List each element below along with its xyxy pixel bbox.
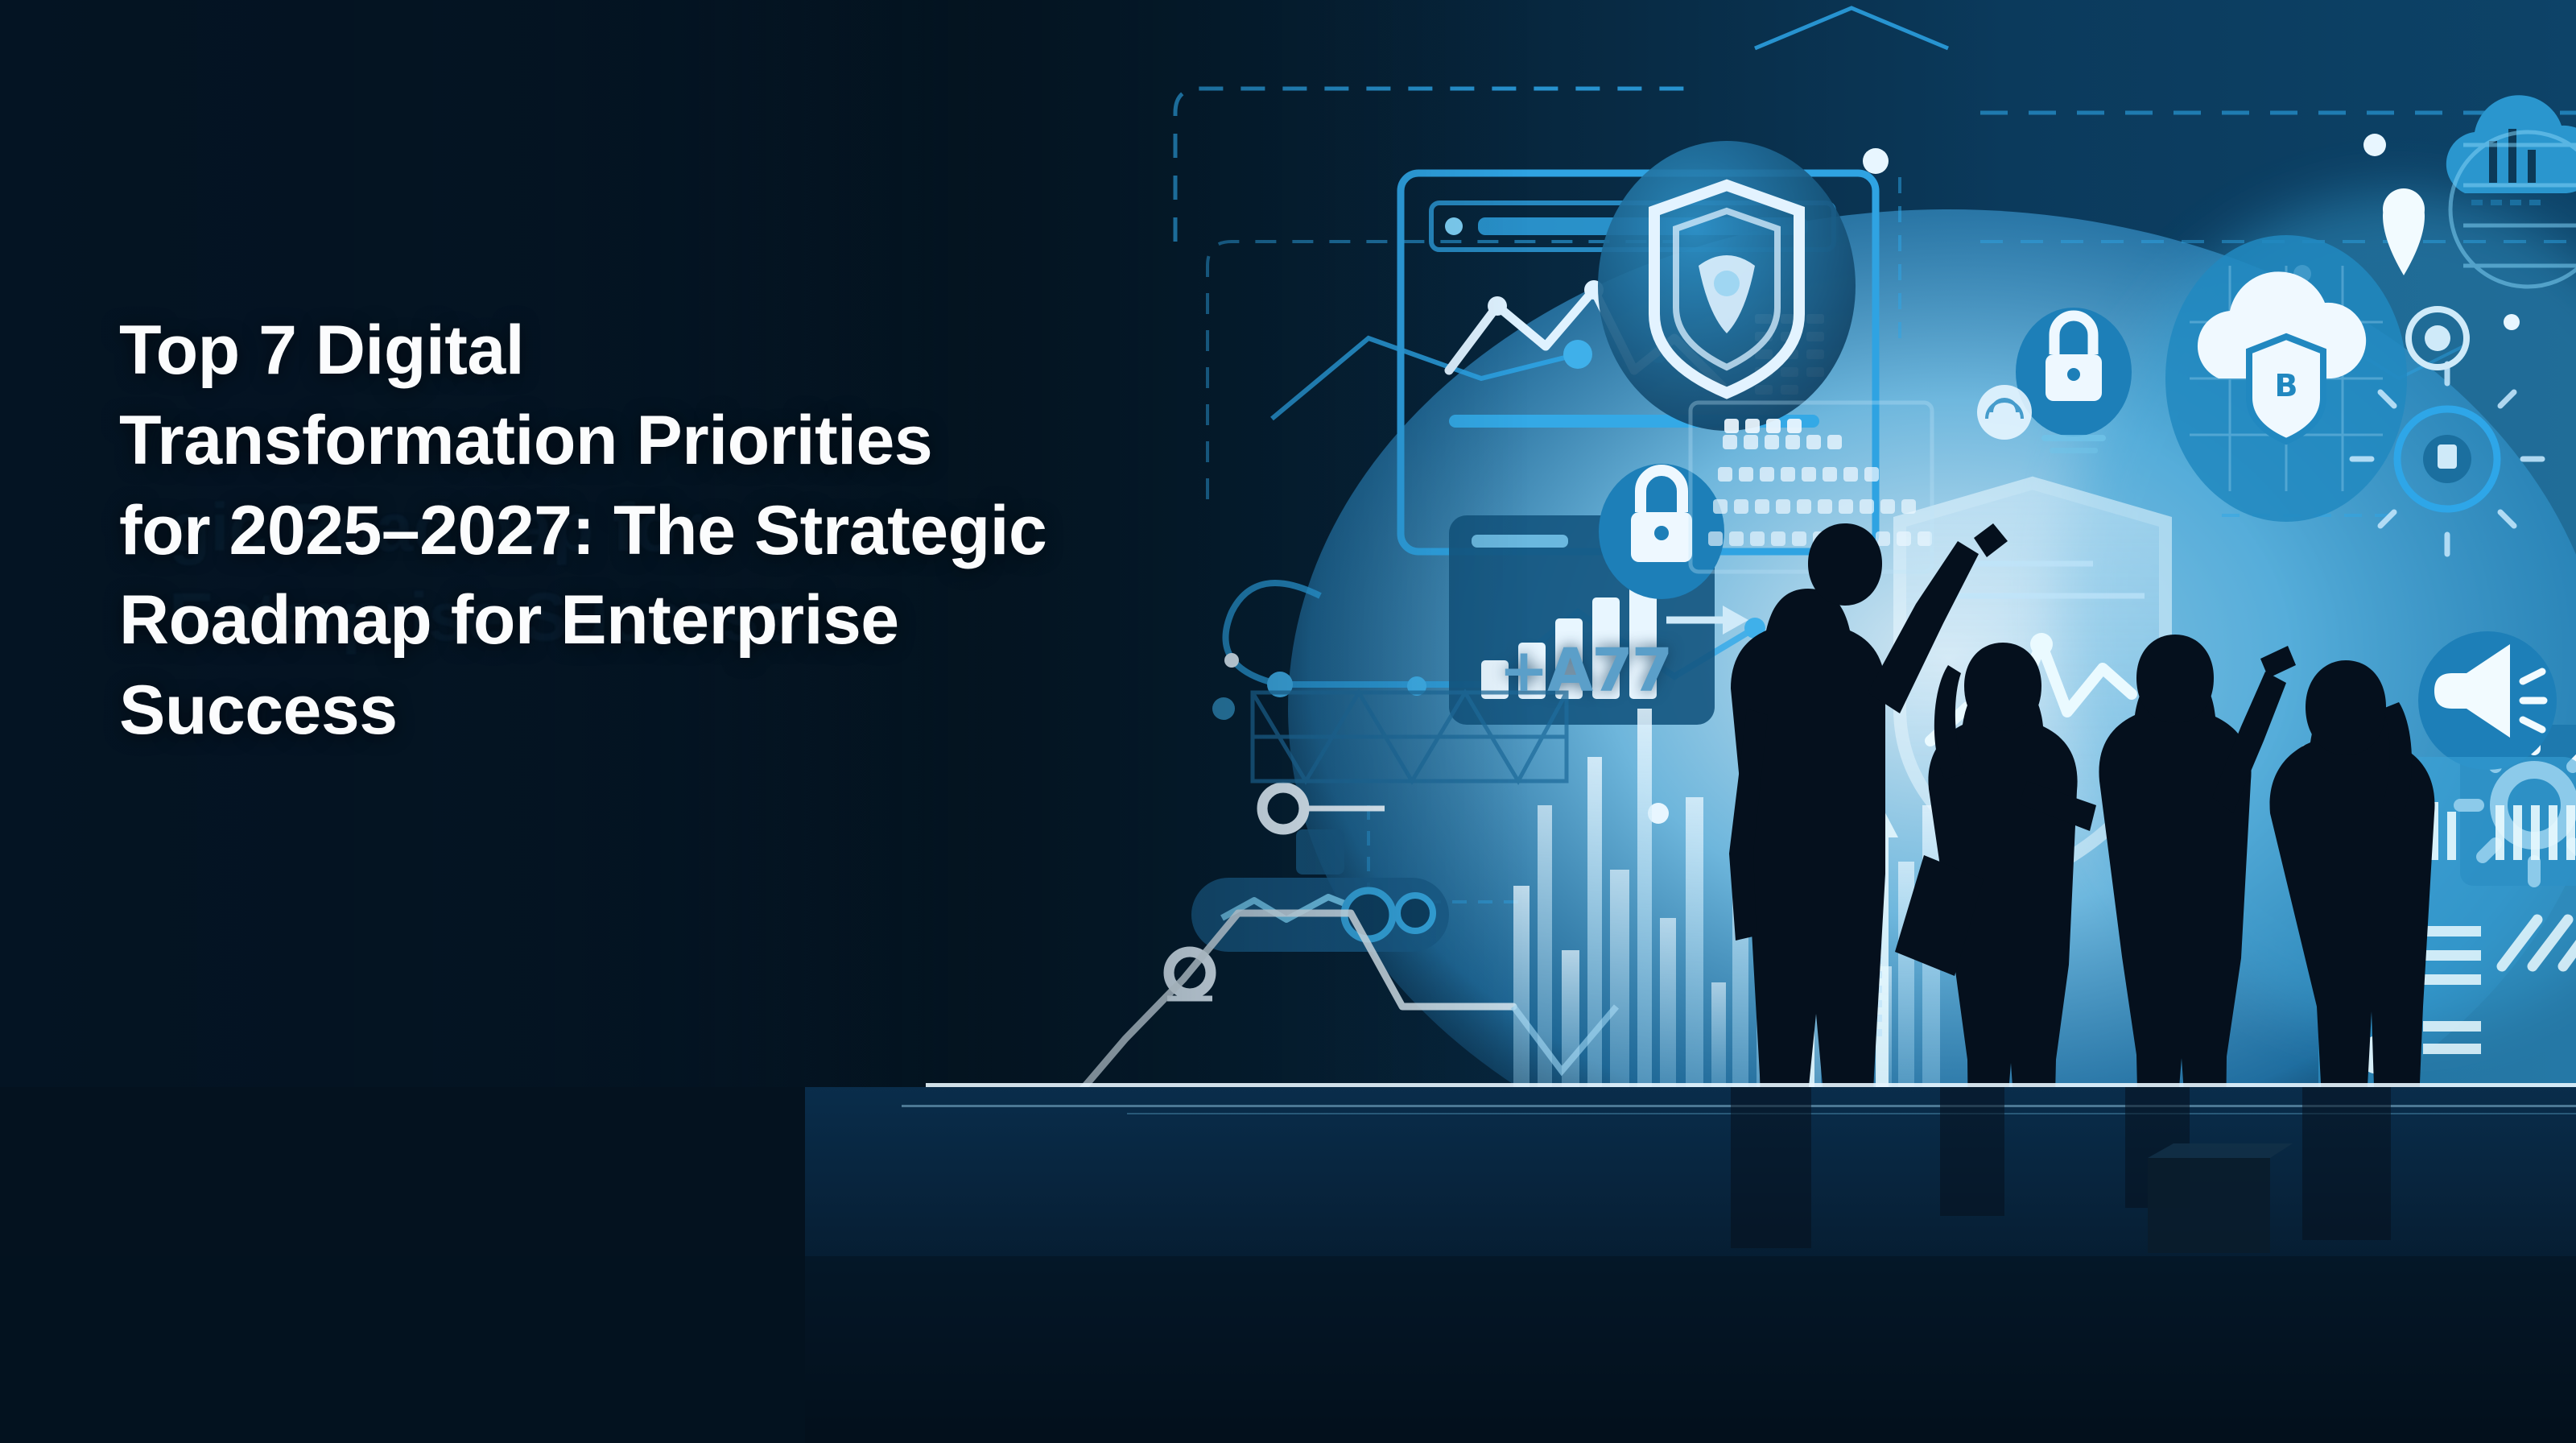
fingerprint-icon [1977,385,2032,440]
headline-line-3: for 2025–2027: The Strategic [119,486,1375,577]
hero-banner: B [0,0,2576,1443]
page-title: Top 7 Digital Transformation Priorities … [119,306,1375,756]
shield-badge-icon [1598,141,1856,431]
headline-line-1: Top 7 Digital [119,306,1375,396]
padlock-icon [1599,464,1724,599]
a77-badge: +A77 [1499,636,1671,705]
cloud-shield-icon: B [2165,235,2407,522]
megaphone-icon [2418,631,2557,770]
headline-block: Top 7 Digital Transformation Priorities … [119,306,1375,756]
headline-line-5: Success [119,666,1375,756]
svg-text:B: B [2275,368,2298,403]
headline-line-2: Transformation Priorities [119,396,1375,486]
headline-line-4: Roadmap for Enterprise [119,576,1375,666]
